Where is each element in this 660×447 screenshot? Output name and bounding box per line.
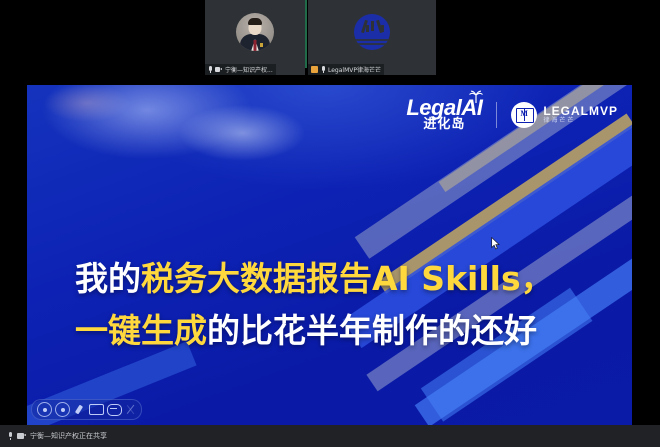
microphone-icon — [208, 66, 212, 73]
eraser-icon[interactable] — [107, 404, 122, 416]
legalai-subtitle: 进化岛 — [423, 118, 465, 132]
slide-logo-row: LegalAI 进化岛 M LEGALMVP 律海芒芒 — [406, 97, 618, 132]
participant-name-bar-2: LegalMVP律海芒芒 — [308, 64, 384, 75]
legalmvp-wordmark: LEGALMVP — [543, 105, 618, 118]
annotation-toolbar[interactable] — [31, 399, 142, 420]
participant-tile-2[interactable]: LegalMVP律海芒芒 — [308, 0, 436, 75]
status-bar: 宁衡—知识产权正在共享 — [0, 425, 660, 447]
mouse-cursor-icon — [491, 237, 500, 250]
palm-tree-icon — [468, 90, 484, 104]
participant-name-bar-1: 宁衡—知识产权... — [205, 64, 276, 75]
headline-line-1: 我的税务大数据报告AI Skills， — [75, 253, 595, 305]
active-speaker-indicator — [305, 0, 307, 68]
legalmvp-logo: M LEGALMVP 律海芒芒 — [511, 102, 618, 128]
camera-icon[interactable] — [17, 433, 26, 439]
legalmvp-logo-avatar — [354, 14, 390, 50]
select-tool[interactable] — [37, 402, 52, 417]
sharing-status-text: 宁衡—知识产权正在共享 — [30, 431, 107, 441]
headline-seg-white: 的比花半年制作的还好 — [207, 311, 537, 350]
slide-headline: 我的税务大数据报告AI Skills， 一键生成的比花半年制作的还好 — [75, 253, 595, 357]
headline-line-2: 一键生成的比花半年制作的还好 — [75, 305, 595, 357]
camera-icon — [215, 67, 222, 72]
legalai-logo: LegalAI 进化岛 — [406, 97, 482, 132]
logo-divider — [496, 102, 497, 128]
headline-seg-gold: 税务大数据报告AI Skills， — [141, 259, 554, 298]
pen-icon[interactable] — [73, 403, 86, 416]
more-icon[interactable] — [125, 404, 136, 415]
book-m-badge-icon: M — [511, 102, 537, 128]
headline-seg-white: 我的 — [75, 259, 141, 298]
video-tile-strip: 宁衡—知识产权... LegalMVP律海芒芒 — [0, 0, 660, 75]
shared-slide[interactable]: LegalAI 进化岛 M LEGALMVP 律海芒芒 我的税务大数据报告AI … — [27, 85, 632, 425]
microphone-icon — [321, 66, 325, 73]
rectangle-icon[interactable] — [89, 404, 104, 415]
meeting-screen-share-window: 宁衡—知识产权... LegalMVP律海芒芒 — [0, 0, 660, 447]
participant-tile-1[interactable]: 宁衡—知识产权... — [205, 0, 305, 75]
microphone-icon[interactable] — [8, 432, 13, 440]
screen-share-icon — [311, 66, 318, 73]
avatar — [236, 13, 274, 51]
legalmvp-subtitle: 律海芒芒 — [543, 118, 618, 125]
headline-seg-gold: 一键生成 — [75, 311, 207, 350]
participant-name-1: 宁衡—知识产权... — [225, 65, 273, 74]
pointer-tool[interactable] — [55, 402, 70, 417]
participant-name-2: LegalMVP律海芒芒 — [328, 65, 381, 74]
